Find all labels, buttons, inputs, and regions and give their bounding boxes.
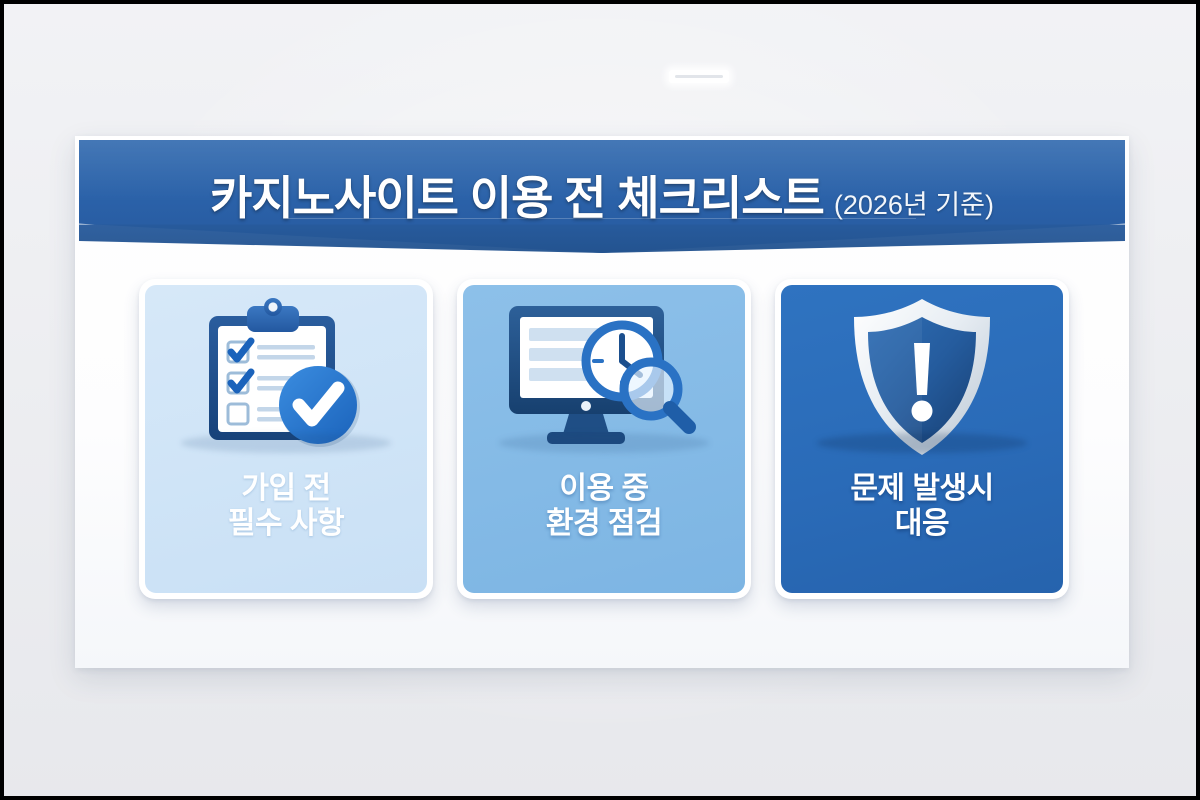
card-icon-area xyxy=(145,285,427,471)
card-label-line2: 대응 xyxy=(850,506,993,541)
icon-drop-shadow xyxy=(817,433,1027,453)
card-label-line2: 필수 사항 xyxy=(228,506,344,541)
icon-drop-shadow xyxy=(499,433,709,453)
content-panel: 카지노사이트 이용 전 체크리스트 (2026년 기준) xyxy=(75,136,1129,668)
page-title: 카지노사이트 이용 전 체크리스트 xyxy=(210,162,824,228)
card-row: 가입 전 필수 사항 xyxy=(139,279,1069,599)
card-surface: 가입 전 필수 사항 xyxy=(145,285,427,593)
card-label-line1: 문제 발생시 xyxy=(850,471,993,506)
card-surface: 문제 발생시 대응 xyxy=(781,285,1063,593)
header-banner: 카지노사이트 이용 전 체크리스트 (2026년 기준) xyxy=(79,140,1125,253)
card-icon-area xyxy=(781,285,1063,471)
card-surface: 이용 중 환경 점검 xyxy=(463,285,745,593)
card-environment-check[interactable]: 이용 중 환경 점검 xyxy=(457,279,751,599)
top-placeholder-bar xyxy=(669,70,729,83)
card-incident-response[interactable]: 문제 발생시 대응 xyxy=(775,279,1069,599)
card-label: 이용 중 환경 점검 xyxy=(538,471,670,542)
poster-canvas: 카지노사이트 이용 전 체크리스트 (2026년 기준) xyxy=(4,4,1196,796)
icon-drop-shadow xyxy=(181,433,391,453)
card-label-line1: 가입 전 xyxy=(228,471,344,506)
top-placeholder-line xyxy=(675,75,723,78)
card-label-line2: 환경 점검 xyxy=(546,506,662,541)
header-title-group: 카지노사이트 이용 전 체크리스트 (2026년 기준) xyxy=(79,162,1125,228)
card-signup-requirements[interactable]: 가입 전 필수 사항 xyxy=(139,279,433,599)
page-subtitle: (2026년 기준) xyxy=(834,183,994,222)
card-icon-area xyxy=(463,285,745,471)
card-label: 가입 전 필수 사항 xyxy=(220,471,352,542)
card-label-line1: 이용 중 xyxy=(546,471,662,506)
card-label: 문제 발생시 대응 xyxy=(842,471,1001,542)
